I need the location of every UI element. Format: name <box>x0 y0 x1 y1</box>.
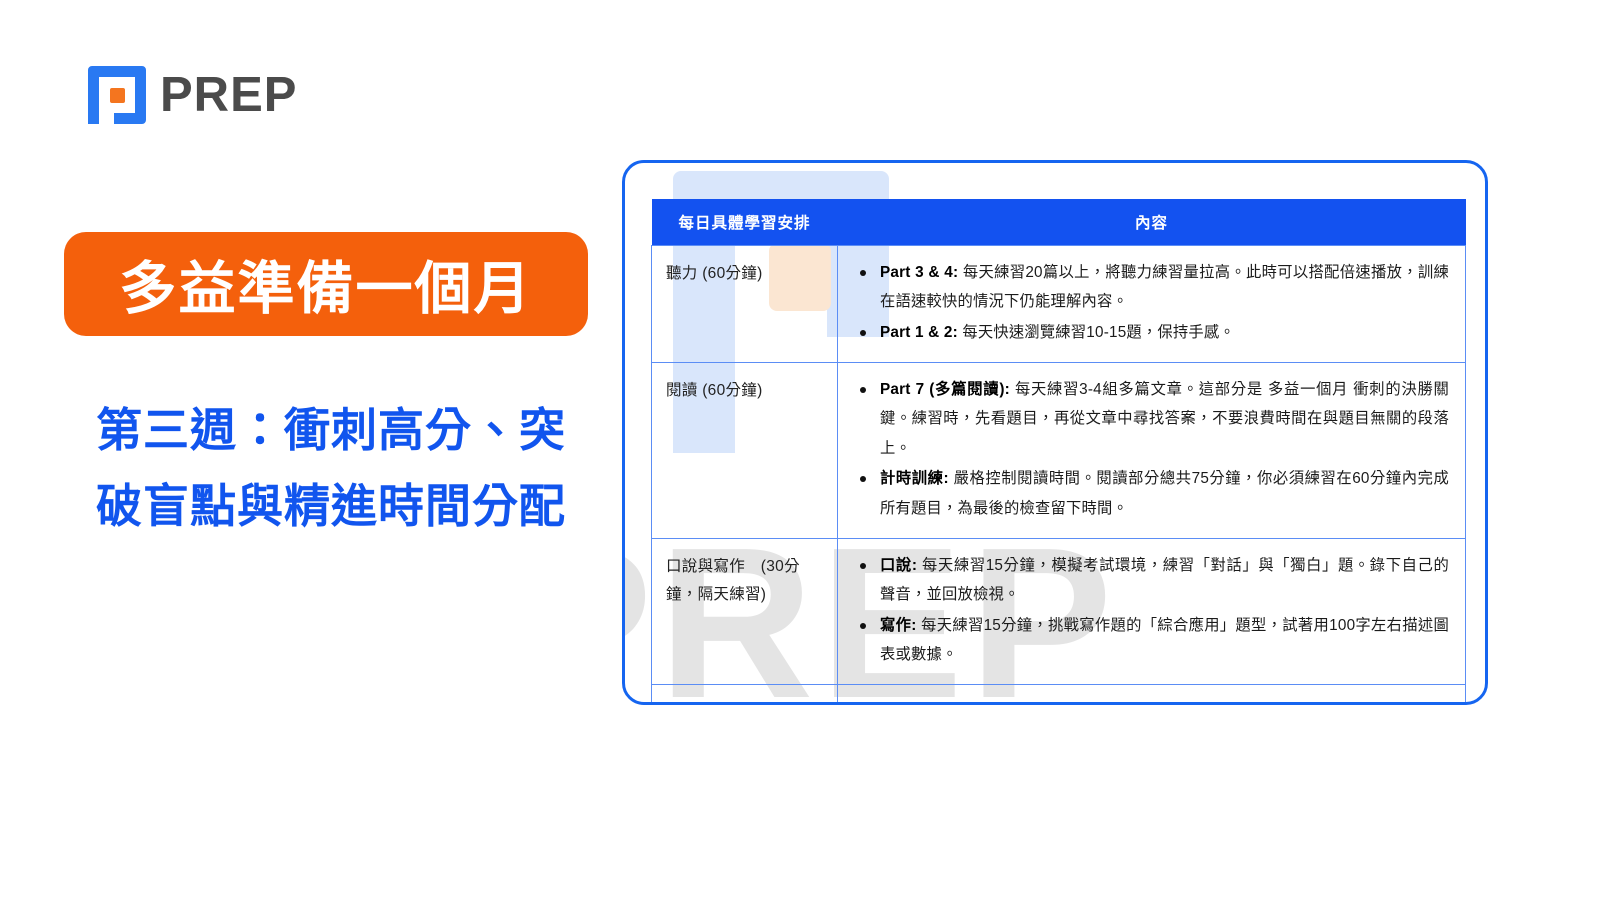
bullet-text: 每天快速瀏覽練習10-15題，保持手感。 <box>958 324 1235 341</box>
topic-badge-label: 多益準備一個月 <box>120 243 533 325</box>
bullet-text: 嚴格控制閱讀時間。閱讀部分總共75分鐘，你必須練習在60分鐘內完成所有題目，為最… <box>880 470 1449 516</box>
brand-wordmark: PREP <box>160 71 297 120</box>
table-head: 每日具體學習安排 內容 <box>652 199 1466 246</box>
schedule-table-wrap: 每日具體學習安排 內容 聽力 (60分鐘) Part 3 & 4: 每天練習20… <box>651 199 1465 705</box>
list-item: 口說: 每天練習15分鐘，模擬考試環境，練習「對話」與「獨白」題。錄下自己的聲音… <box>880 551 1449 610</box>
bullet-list: Part 3 & 4: 每天練習20篇以上，將聽力練習量拉高。此時可以搭配倍速播… <box>846 258 1449 347</box>
bullet-list: Part 7 (多篇閱讀): 每天練習3-4組多篇文章。這部分是 多益一個月 衝… <box>846 375 1449 523</box>
bullet-text: 每天練習20篇以上，將聽力練習量拉高。此時可以搭配倍速播放，訓練在語速較快的情況… <box>880 264 1449 310</box>
table-body: 聽力 (60分鐘) Part 3 & 4: 每天練習20篇以上，將聽力練習量拉高… <box>652 246 1466 706</box>
bullet-lead: 寫作: <box>880 617 917 634</box>
row-label-listening: 聽力 (60分鐘) <box>652 246 838 363</box>
page-title: 第三週：衝刺高分、突破盲點與精進時間分配 <box>96 392 566 545</box>
bullet-text: 每天練習15分鐘，模擬考試環境，練習「對話」與「獨白」題。錄下自己的聲音，並回放… <box>880 557 1449 603</box>
list-item: Part 1 & 2: 每天快速瀏覽練習10-15題，保持手感。 <box>880 318 1449 347</box>
table-row: 閱讀 (60分鐘) Part 7 (多篇閱讀): 每天練習3-4組多篇文章。這部… <box>652 363 1466 539</box>
column-header-content: 內容 <box>838 199 1466 246</box>
bullet-lead: 口說: <box>880 557 917 574</box>
row-content-speaking-writing: 口說: 每天練習15分鐘，模擬考試環境，練習「對話」與「獨白」題。錄下自己的聲音… <box>838 538 1466 684</box>
schedule-card: PREP 每日具體學習安排 內容 聽力 (60分鐘) Part 3 & 4: 每… <box>622 160 1488 705</box>
row-label-speaking-writing: 口說與寫作 (30分鐘，隔天練習) <box>652 538 838 684</box>
schedule-table: 每日具體學習安排 內容 聽力 (60分鐘) Part 3 & 4: 每天練習20… <box>651 199 1466 705</box>
list-item: 寫作: 每天練習15分鐘，挑戰寫作題的「綜合應用」題型，試著用100字左右描述圖… <box>880 611 1449 670</box>
bullet-lead: Part 3 & 4: <box>880 264 958 281</box>
bullet-lead: Part 1 & 2: <box>880 324 958 341</box>
prep-logo-icon <box>88 66 146 124</box>
brand-logo: PREP <box>88 66 297 124</box>
list-item: Part 7 (多篇閱讀): 每天練習3-4組多篇文章。這部分是 多益一個月 衝… <box>880 375 1449 463</box>
table-row: 口說與寫作 (30分鐘，隔天練習) 口說: 每天練習15分鐘，模擬考試環境，練習… <box>652 538 1466 684</box>
row-content-reading: Part 7 (多篇閱讀): 每天練習3-4組多篇文章。這部分是 多益一個月 衝… <box>838 363 1466 539</box>
row-label-truncated <box>652 685 838 705</box>
bullet-lead: 計時訓練: <box>880 470 949 487</box>
bullet-text: 每天練習15分鐘，挑戰寫作題的「綜合應用」題型，試著用100字左右描述圖表或數據… <box>880 617 1449 663</box>
table-header-row: 每日具體學習安排 內容 <box>652 199 1466 246</box>
table-row: 聽力 (60分鐘) Part 3 & 4: 每天練習20篇以上，將聽力練習量拉高… <box>652 246 1466 363</box>
list-item: Part 3 & 4: 每天練習20篇以上，將聽力練習量拉高。此時可以搭配倍速播… <box>880 258 1449 317</box>
row-label-reading: 閱讀 (60分鐘) <box>652 363 838 539</box>
bullet-lead: Part 7 (多篇閱讀): <box>880 381 1010 398</box>
topic-badge: 多益準備一個月 <box>64 232 588 336</box>
bullet-list: 口說: 每天練習15分鐘，模擬考試環境，練習「對話」與「獨白」題。錄下自己的聲音… <box>846 551 1449 669</box>
logo-stem <box>88 86 99 124</box>
list-item: 計時訓練: 嚴格控制閱讀時間。閱讀部分總共75分鐘，你必須練習在60分鐘內完成所… <box>880 464 1449 523</box>
logo-orange-square <box>110 88 125 103</box>
column-header-plan: 每日具體學習安排 <box>652 199 838 246</box>
table-row-truncated <box>652 685 1466 705</box>
row-content-listening: Part 3 & 4: 每天練習20篇以上，將聽力練習量拉高。此時可以搭配倍速播… <box>838 246 1466 363</box>
row-content-truncated <box>838 685 1466 705</box>
poster-canvas: PREP 多益準備一個月 第三週：衝刺高分、突破盲點與精進時間分配 PREP 每… <box>0 0 1600 900</box>
